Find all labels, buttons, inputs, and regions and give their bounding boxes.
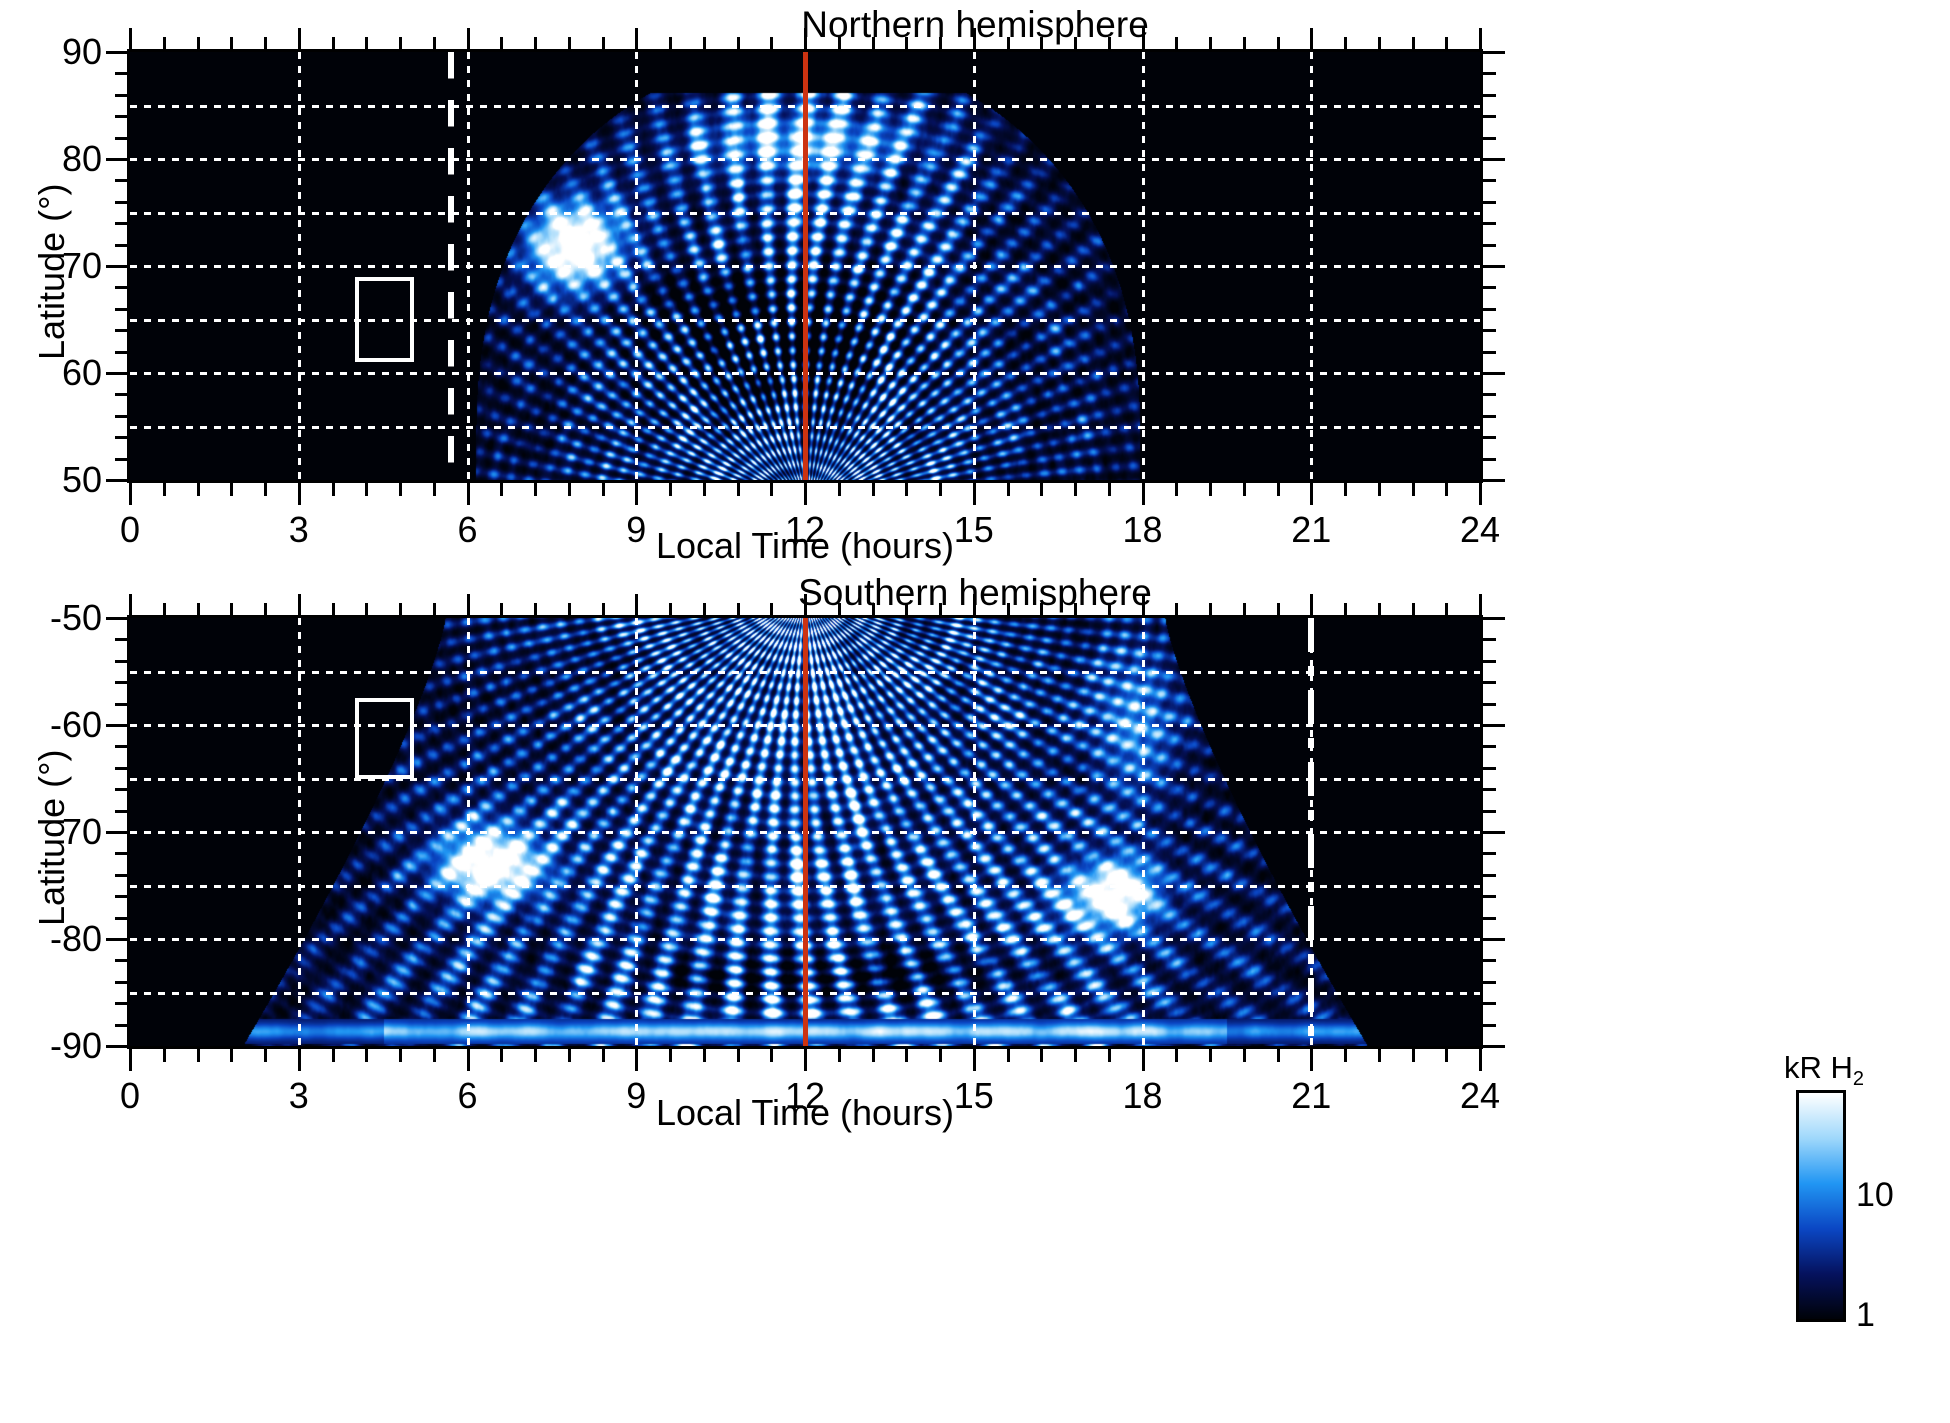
x-tick-minor [264, 1049, 267, 1062]
x-tick-minor [568, 37, 571, 50]
y-tick-minor [1483, 94, 1496, 97]
y-tick-minor [1483, 201, 1496, 204]
x-tick-minor [264, 483, 267, 496]
x-tick-minor [1243, 37, 1246, 50]
x-tick-minor [163, 1049, 166, 1062]
y-tick-minor [115, 436, 128, 439]
x-tick-minor [1108, 603, 1111, 616]
x-tick-major [298, 594, 301, 616]
y-tick-major [1483, 158, 1505, 161]
x-tick-major [467, 28, 470, 50]
y-tick-major [1483, 51, 1505, 54]
y-tick-minor [115, 137, 128, 140]
x-tick-minor [1243, 483, 1246, 496]
x-tick-minor [534, 483, 537, 496]
x-tick-minor [568, 483, 571, 496]
y-tick-minor [1483, 351, 1496, 354]
terminator-line [448, 52, 454, 480]
x-tick-minor [332, 1049, 335, 1062]
y-tick-minor [1483, 458, 1496, 461]
x-tick-major [298, 483, 301, 505]
x-tick-label: 6 [423, 512, 513, 548]
y-tick-major [106, 724, 128, 727]
x-tick-minor [770, 1049, 773, 1062]
x-tick-minor [737, 1049, 740, 1062]
x-tick-minor [163, 603, 166, 616]
x-tick-major [129, 594, 132, 616]
x-tick-label: 15 [929, 512, 1019, 548]
region-box-annotation [355, 277, 414, 363]
x-tick-minor [534, 603, 537, 616]
noon-line [803, 52, 808, 480]
y-tick-major [106, 617, 128, 620]
x-tick-minor [1074, 1049, 1077, 1062]
y-tick-minor [1483, 981, 1496, 984]
x-tick-minor [1209, 37, 1212, 50]
x-tick-minor [905, 37, 908, 50]
x-tick-minor [230, 37, 233, 50]
x-tick-label: 0 [85, 1078, 175, 1114]
x-tick-minor [197, 37, 200, 50]
x-tick-minor [230, 603, 233, 616]
terminator-line [1308, 618, 1314, 1046]
x-tick-minor [905, 603, 908, 616]
x-tick-minor [1344, 1049, 1347, 1062]
y-tick-minor [115, 1002, 128, 1005]
x-tick-minor [669, 603, 672, 616]
x-tick-minor [1209, 1049, 1212, 1062]
y-tick-minor [115, 788, 128, 791]
x-tick-major [1142, 483, 1145, 505]
y-tick-major [106, 158, 128, 161]
x-tick-label: 0 [85, 512, 175, 548]
x-tick-minor [332, 37, 335, 50]
x-tick-minor [332, 603, 335, 616]
y-tick-minor [115, 179, 128, 182]
y-tick-minor [115, 874, 128, 877]
x-tick-minor [1209, 603, 1212, 616]
x-tick-major [1479, 483, 1482, 505]
x-tick-minor [1378, 483, 1381, 496]
x-tick-label: 15 [929, 1078, 1019, 1114]
y-tick-minor [1483, 767, 1496, 770]
x-tick-major [973, 594, 976, 616]
y-tick-minor [1483, 810, 1496, 813]
x-tick-major [1310, 28, 1313, 50]
x-tick-minor [399, 603, 402, 616]
y-tick-major [106, 938, 128, 941]
x-tick-major [1142, 594, 1145, 616]
x-tick-minor [1445, 603, 1448, 616]
colorbar-title-subscript: 2 [1853, 1068, 1864, 1090]
x-tick-minor [838, 37, 841, 50]
x-tick-label: 21 [1266, 512, 1356, 548]
x-tick-minor [1412, 603, 1415, 616]
x-tick-minor [1007, 483, 1010, 496]
y-tick-minor [115, 115, 128, 118]
x-tick-minor [1108, 1049, 1111, 1062]
y-tick-minor [115, 981, 128, 984]
x-tick-label: 18 [1098, 1078, 1188, 1114]
colorbar-tickmark [1796, 1310, 1846, 1312]
y-tick-minor [115, 458, 128, 461]
x-tick-minor [602, 483, 605, 496]
x-tick-minor [602, 603, 605, 616]
x-tick-minor [230, 483, 233, 496]
x-tick-minor [1007, 1049, 1010, 1062]
y-tick-minor [1483, 895, 1496, 898]
x-tick-minor [703, 483, 706, 496]
y-tick-label: -60 [0, 707, 102, 743]
x-tick-minor [1412, 37, 1415, 50]
x-tick-minor [365, 603, 368, 616]
colorbar-gradient [1796, 1090, 1846, 1322]
x-tick-minor [737, 37, 740, 50]
x-tick-minor [838, 603, 841, 616]
x-tick-minor [703, 1049, 706, 1062]
x-tick-minor [433, 483, 436, 496]
y-tick-minor [1483, 436, 1496, 439]
x-tick-minor [1412, 483, 1415, 496]
x-tick-minor [905, 1049, 908, 1062]
x-tick-minor [1175, 483, 1178, 496]
y-tick-minor [115, 895, 128, 898]
y-tick-minor [115, 222, 128, 225]
colorbar-title: kR H2 [1784, 1052, 1864, 1095]
x-tick-minor [1344, 37, 1347, 50]
colorbar-tickmark [1796, 1190, 1846, 1192]
x-tick-minor [1378, 37, 1381, 50]
x-tick-major [1142, 1049, 1145, 1071]
x-tick-minor [872, 37, 875, 50]
x-tick-minor [433, 603, 436, 616]
x-tick-minor [1074, 483, 1077, 496]
y-tick-major [1483, 617, 1505, 620]
x-tick-minor [905, 483, 908, 496]
y-tick-minor [115, 703, 128, 706]
y-tick-minor [1483, 638, 1496, 641]
y-tick-label: -90 [0, 1028, 102, 1064]
x-tick-minor [1344, 603, 1347, 616]
x-tick-major [1310, 594, 1313, 616]
y-tick-minor [1483, 874, 1496, 877]
y-tick-minor [1483, 703, 1496, 706]
plot-area-northern [130, 52, 1480, 480]
y-tick-minor [115, 767, 128, 770]
noon-line [803, 618, 808, 1046]
x-tick-major [804, 28, 807, 50]
x-tick-minor [703, 37, 706, 50]
y-tick-minor [1483, 1024, 1496, 1027]
y-tick-label: 70 [0, 248, 102, 284]
x-tick-minor [1243, 603, 1246, 616]
y-tick-minor [115, 244, 128, 247]
x-tick-major [635, 28, 638, 50]
x-tick-minor [1074, 603, 1077, 616]
y-tick-minor [115, 852, 128, 855]
x-tick-minor [1040, 1049, 1043, 1062]
x-tick-major [1142, 28, 1145, 50]
x-tick-major [1479, 28, 1482, 50]
y-tick-minor [115, 286, 128, 289]
x-tick-major [129, 28, 132, 50]
x-tick-minor [939, 1049, 942, 1062]
y-tick-minor [115, 917, 128, 920]
y-tick-major [1483, 724, 1505, 727]
y-tick-minor [1483, 286, 1496, 289]
y-tick-minor [1483, 329, 1496, 332]
x-tick-minor [1445, 37, 1448, 50]
y-tick-minor [1483, 137, 1496, 140]
x-tick-minor [872, 1049, 875, 1062]
x-tick-major [467, 1049, 470, 1071]
x-tick-major [467, 483, 470, 505]
x-tick-minor [163, 37, 166, 50]
x-tick-minor [1378, 1049, 1381, 1062]
x-tick-minor [365, 1049, 368, 1062]
x-tick-minor [872, 483, 875, 496]
x-tick-major [804, 1049, 807, 1071]
x-tick-minor [838, 483, 841, 496]
x-tick-minor [1040, 483, 1043, 496]
x-tick-minor [264, 37, 267, 50]
y-tick-major [1483, 265, 1505, 268]
x-tick-major [129, 1049, 132, 1071]
x-tick-label: 3 [254, 1078, 344, 1114]
y-tick-minor [1483, 1002, 1496, 1005]
x-tick-minor [500, 603, 503, 616]
x-tick-minor [197, 483, 200, 496]
x-tick-major [1310, 483, 1313, 505]
y-tick-minor [115, 638, 128, 641]
x-tick-minor [399, 1049, 402, 1062]
x-tick-label: 6 [423, 1078, 513, 1114]
x-tick-minor [1445, 483, 1448, 496]
y-tick-minor [1483, 393, 1496, 396]
x-tick-minor [197, 603, 200, 616]
y-tick-minor [115, 72, 128, 75]
x-tick-major [635, 483, 638, 505]
x-tick-minor [669, 1049, 672, 1062]
plot-area-southern [130, 618, 1480, 1046]
x-tick-label: 9 [591, 1078, 681, 1114]
x-tick-minor [163, 483, 166, 496]
y-tick-minor [115, 415, 128, 418]
x-tick-label: 24 [1435, 1078, 1525, 1114]
x-tick-minor [1007, 603, 1010, 616]
x-tick-major [804, 594, 807, 616]
y-tick-minor [115, 1024, 128, 1027]
y-tick-minor [1483, 852, 1496, 855]
y-tick-label: -80 [0, 921, 102, 957]
x-tick-minor [500, 483, 503, 496]
x-tick-minor [1175, 1049, 1178, 1062]
y-tick-label: 50 [0, 462, 102, 498]
x-tick-minor [770, 37, 773, 50]
y-tick-major [106, 265, 128, 268]
y-tick-label: 90 [0, 34, 102, 70]
y-tick-minor [115, 201, 128, 204]
x-tick-minor [399, 37, 402, 50]
y-tick-minor [115, 681, 128, 684]
x-tick-major [804, 483, 807, 505]
y-tick-minor [115, 329, 128, 332]
x-tick-minor [1277, 483, 1280, 496]
y-tick-major [106, 479, 128, 482]
x-tick-minor [669, 37, 672, 50]
x-tick-minor [1243, 1049, 1246, 1062]
x-tick-major [635, 1049, 638, 1071]
region-box-annotation [355, 698, 414, 778]
x-tick-minor [500, 37, 503, 50]
y-tick-minor [1483, 745, 1496, 748]
x-tick-minor [332, 483, 335, 496]
x-tick-minor [602, 37, 605, 50]
y-tick-minor [1483, 917, 1496, 920]
y-tick-major [1483, 372, 1505, 375]
y-tick-minor [115, 745, 128, 748]
y-tick-minor [115, 959, 128, 962]
x-tick-minor [939, 483, 942, 496]
y-tick-minor [1483, 72, 1496, 75]
x-tick-minor [1277, 1049, 1280, 1062]
x-tick-minor [602, 1049, 605, 1062]
x-tick-major [635, 594, 638, 616]
x-tick-minor [534, 1049, 537, 1062]
x-tick-minor [669, 483, 672, 496]
x-tick-major [298, 28, 301, 50]
x-tick-major [973, 28, 976, 50]
x-tick-minor [1108, 483, 1111, 496]
x-tick-minor [1277, 37, 1280, 50]
x-tick-minor [737, 603, 740, 616]
x-tick-minor [1445, 1049, 1448, 1062]
y-tick-minor [115, 660, 128, 663]
x-tick-minor [939, 603, 942, 616]
x-tick-minor [365, 483, 368, 496]
y-tick-label: -70 [0, 814, 102, 850]
x-tick-label: 18 [1098, 512, 1188, 548]
y-tick-minor [1483, 115, 1496, 118]
x-tick-minor [1040, 603, 1043, 616]
y-tick-minor [1483, 681, 1496, 684]
x-tick-minor [500, 1049, 503, 1062]
y-tick-minor [115, 308, 128, 311]
x-tick-label: 3 [254, 512, 344, 548]
x-tick-major [973, 1049, 976, 1071]
x-tick-minor [1412, 1049, 1415, 1062]
panel-northern: Northern hemisphere Latitude (°) Local T… [0, 0, 1950, 570]
x-tick-label: 12 [760, 1078, 850, 1114]
x-tick-minor [1344, 483, 1347, 496]
x-tick-label: 12 [760, 512, 850, 548]
y-tick-major [106, 1045, 128, 1048]
y-tick-minor [115, 94, 128, 97]
x-tick-major [1310, 1049, 1313, 1071]
y-tick-minor [115, 393, 128, 396]
x-tick-minor [703, 603, 706, 616]
x-tick-minor [1175, 603, 1178, 616]
x-tick-minor [939, 37, 942, 50]
y-tick-major [1483, 831, 1505, 834]
panel-southern: Southern hemisphere Latitude (°) Local T… [0, 570, 1950, 1423]
x-tick-label: 24 [1435, 512, 1525, 548]
y-tick-major [106, 372, 128, 375]
y-tick-major [106, 831, 128, 834]
x-tick-major [1479, 1049, 1482, 1071]
x-tick-minor [1175, 37, 1178, 50]
x-tick-minor [770, 603, 773, 616]
x-tick-minor [433, 37, 436, 50]
x-tick-minor [1277, 603, 1280, 616]
y-tick-minor [1483, 308, 1496, 311]
y-tick-label: 80 [0, 141, 102, 177]
x-tick-major [129, 483, 132, 505]
y-tick-major [1483, 938, 1505, 941]
x-tick-label: 21 [1266, 1078, 1356, 1114]
x-tick-major [298, 1049, 301, 1071]
x-tick-minor [399, 483, 402, 496]
y-tick-minor [1483, 959, 1496, 962]
x-tick-major [1479, 594, 1482, 616]
x-tick-minor [568, 603, 571, 616]
x-tick-minor [1108, 37, 1111, 50]
x-tick-minor [838, 1049, 841, 1062]
x-tick-minor [433, 1049, 436, 1062]
x-tick-minor [1378, 603, 1381, 616]
y-tick-major [106, 51, 128, 54]
y-tick-label: -50 [0, 600, 102, 636]
y-tick-minor [1483, 222, 1496, 225]
y-tick-major [1483, 1045, 1505, 1048]
colorbar-tick-10: 10 [1856, 1178, 1894, 1212]
x-tick-minor [770, 483, 773, 496]
colorbar-title-text: kR H [1784, 1050, 1853, 1085]
x-tick-minor [1040, 37, 1043, 50]
y-tick-minor [1483, 415, 1496, 418]
y-tick-minor [1483, 660, 1496, 663]
x-tick-minor [568, 1049, 571, 1062]
x-tick-minor [264, 603, 267, 616]
y-tick-label: 60 [0, 355, 102, 391]
y-tick-minor [115, 810, 128, 813]
x-tick-minor [872, 603, 875, 616]
x-tick-minor [197, 1049, 200, 1062]
x-tick-minor [1007, 37, 1010, 50]
colorbar-tick-1: 1 [1856, 1298, 1875, 1332]
y-tick-minor [1483, 179, 1496, 182]
y-tick-major [1483, 479, 1505, 482]
x-tick-minor [737, 483, 740, 496]
y-tick-minor [1483, 788, 1496, 791]
x-tick-minor [534, 37, 537, 50]
x-tick-label: 9 [591, 512, 681, 548]
x-tick-minor [365, 37, 368, 50]
y-tick-minor [115, 351, 128, 354]
x-tick-minor [1209, 483, 1212, 496]
y-tick-minor [1483, 244, 1496, 247]
x-tick-major [467, 594, 470, 616]
x-tick-minor [1074, 37, 1077, 50]
x-tick-major [973, 483, 976, 505]
colorbar-group: kR H2 10 1 [1790, 1052, 1950, 1372]
x-tick-minor [230, 1049, 233, 1062]
